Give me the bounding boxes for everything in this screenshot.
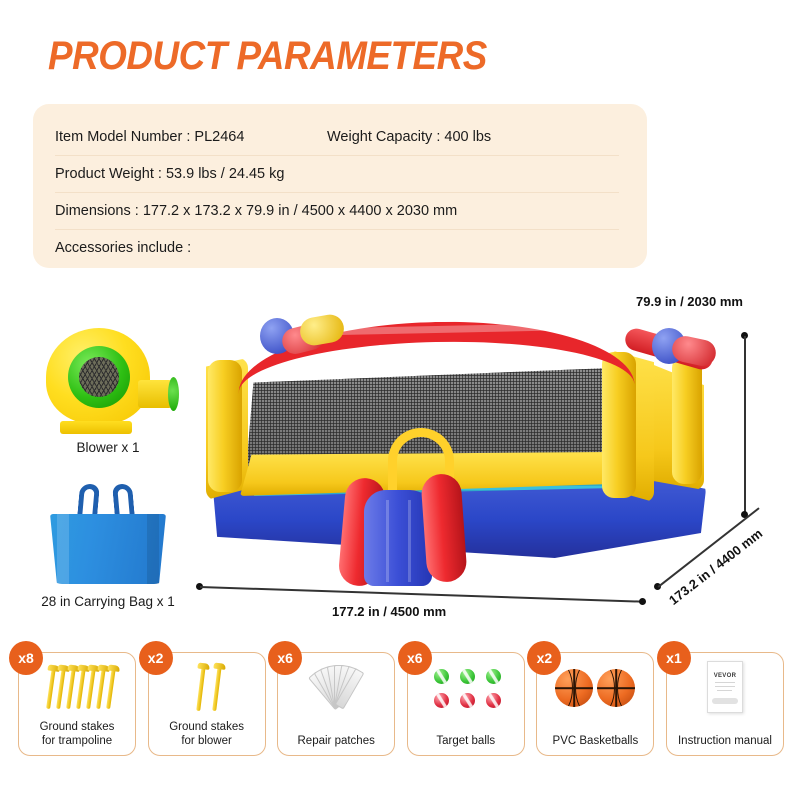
dimension-width-line — [200, 586, 642, 602]
accessory-caption: Instruction manual — [667, 734, 783, 748]
accessory-caption-line1: Target balls — [436, 735, 495, 747]
accessory-caption-line1: Ground stakes — [169, 721, 244, 733]
spec-weight-capacity: Weight Capacity : 400 lbs — [327, 129, 491, 145]
accessory-caption-line1: Repair patches — [298, 735, 375, 747]
page-title: PRODUCT PARAMETERS — [48, 34, 487, 79]
spec-model-number: Item Model Number : PL2464 — [55, 129, 327, 145]
bounce-house-illustration — [196, 312, 712, 584]
spec-row: Product Weight : 53.9 lbs / 24.45 kg — [55, 155, 625, 192]
spec-panel: Item Model Number : PL2464 Weight Capaci… — [33, 104, 647, 268]
quantity-badge: x1 — [657, 641, 691, 675]
spec-row: Dimensions : 177.2 x 173.2 x 79.9 in / 4… — [55, 192, 625, 229]
accessory-caption-line1: Instruction manual — [678, 735, 772, 747]
accessory-caption-line2: for blower — [181, 735, 232, 747]
side-item-carrying-bag: 28 in Carrying Bag x 1 — [28, 478, 188, 609]
accessory-caption: Repair patches — [278, 734, 394, 748]
accessory-cards: x8 Ground stakes for trampoline x2 — [18, 652, 784, 768]
quantity-badge: x2 — [139, 641, 173, 675]
spec-row: Accessories include : — [55, 229, 625, 266]
quantity-badge: x6 — [268, 641, 302, 675]
spec-product-weight: Product Weight : 53.9 lbs / 24.45 kg — [55, 166, 284, 182]
dimension-width-label: 177.2 in / 4500 mm — [332, 604, 446, 619]
dimension-height-line — [744, 336, 746, 514]
carrying-bag-caption: 28 in Carrying Bag x 1 — [28, 594, 188, 609]
product-parameters-page: PRODUCT PARAMETERS Item Model Number : P… — [0, 0, 800, 800]
accessory-caption: Ground stakes for trampoline — [19, 720, 135, 748]
blower-icon — [38, 326, 178, 434]
accessory-card-repair-patches[interactable]: x6 Repair patches — [277, 652, 395, 756]
accessory-card-pvc-basketballs[interactable]: x2 PVC Basketballs — [536, 652, 654, 756]
dimension-height-label: 79.9 in / 2030 mm — [636, 294, 743, 309]
carrying-bag-icon — [38, 478, 178, 588]
manual-brand: VEVOR — [708, 673, 742, 679]
dimension-width-dot-right — [639, 598, 646, 605]
accessory-caption: PVC Basketballs — [537, 734, 653, 748]
accessory-caption-line1: PVC Basketballs — [553, 735, 639, 747]
spec-accessories-include: Accessories include : — [55, 240, 191, 256]
quantity-badge: x6 — [398, 641, 432, 675]
accessory-card-target-balls[interactable]: x6 Target balls — [407, 652, 525, 756]
spec-dimensions: Dimensions : 177.2 x 173.2 x 79.9 in / 4… — [55, 203, 457, 219]
blower-caption: Blower x 1 — [28, 440, 188, 455]
accessory-card-ground-stakes-blower[interactable]: x2 Ground stakes for blower — [148, 652, 266, 756]
accessory-card-ground-stakes-trampoline[interactable]: x8 Ground stakes for trampoline — [18, 652, 136, 756]
quantity-badge: x8 — [9, 641, 43, 675]
accessory-caption: Target balls — [408, 734, 524, 748]
accessory-caption-line1: Ground stakes — [40, 721, 115, 733]
accessory-caption: Ground stakes for blower — [149, 720, 265, 748]
accessory-caption-line2: for trampoline — [42, 735, 112, 747]
accessory-card-instruction-manual[interactable]: x1 VEVOR Instruction manual — [666, 652, 784, 756]
spec-row: Item Model Number : PL2464 Weight Capaci… — [55, 118, 625, 155]
side-item-blower: Blower x 1 — [28, 326, 188, 455]
